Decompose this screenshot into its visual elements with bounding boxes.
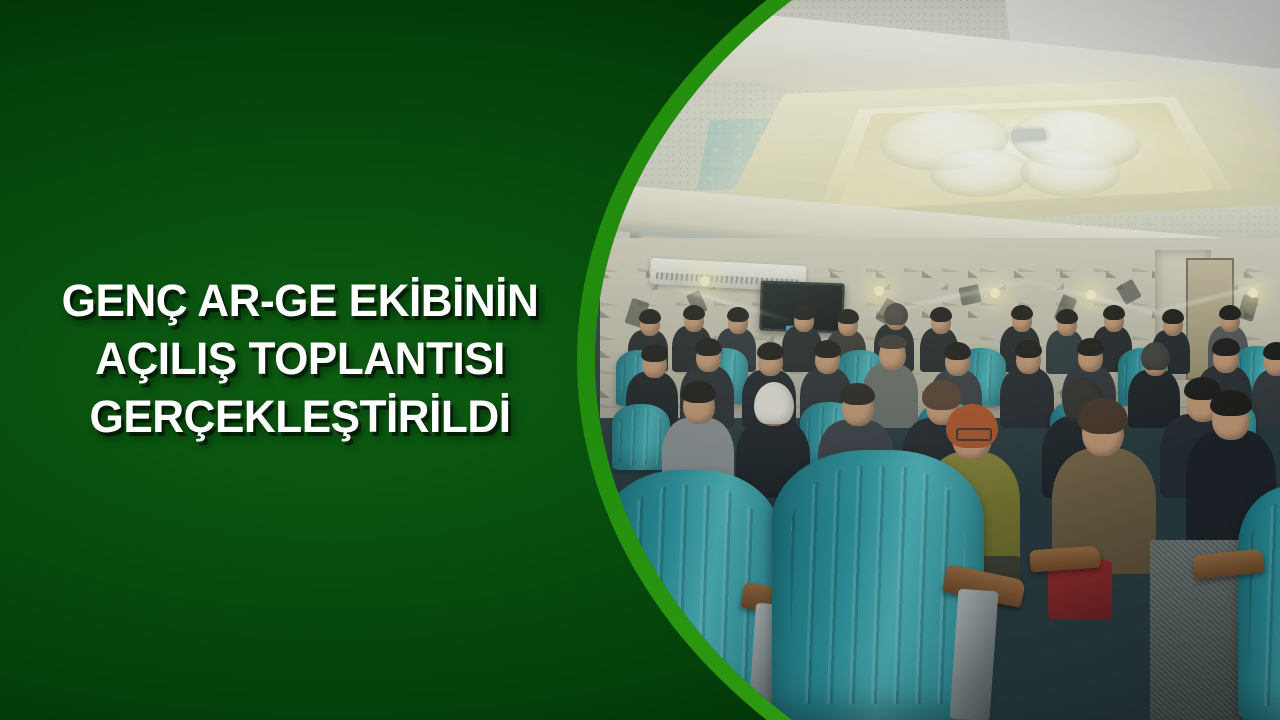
wall-lamp [700, 276, 710, 286]
wall-lamp [1086, 290, 1096, 300]
foreground-person-hair [1210, 390, 1252, 416]
news-banner: GENÇ AR-GE EKİBİNİN AÇILIŞ TOPLANTISI GE… [0, 0, 1280, 720]
headline-line-2: AÇILIŞ TOPLANTISI [6, 330, 594, 388]
diffuser-center-hub [1012, 128, 1047, 142]
foreground-person-hair [946, 404, 998, 448]
headline-line-3: GERÇEKLEŞTİRİLDİ [6, 388, 594, 446]
foreground-seat-right [1238, 486, 1280, 720]
headline-line-1: GENÇ AR-GE EKİBİNİN [6, 272, 594, 330]
foreground-person-hair [1078, 398, 1128, 434]
seat-side-panel [950, 589, 999, 720]
eyeglasses-icon [956, 428, 992, 441]
wall-lamp [874, 286, 884, 296]
wall-lamp [990, 288, 1000, 298]
wall-lamp [1248, 288, 1258, 298]
headline: GENÇ AR-GE EKİBİNİN AÇILIŞ TOPLANTISI GE… [0, 272, 600, 446]
